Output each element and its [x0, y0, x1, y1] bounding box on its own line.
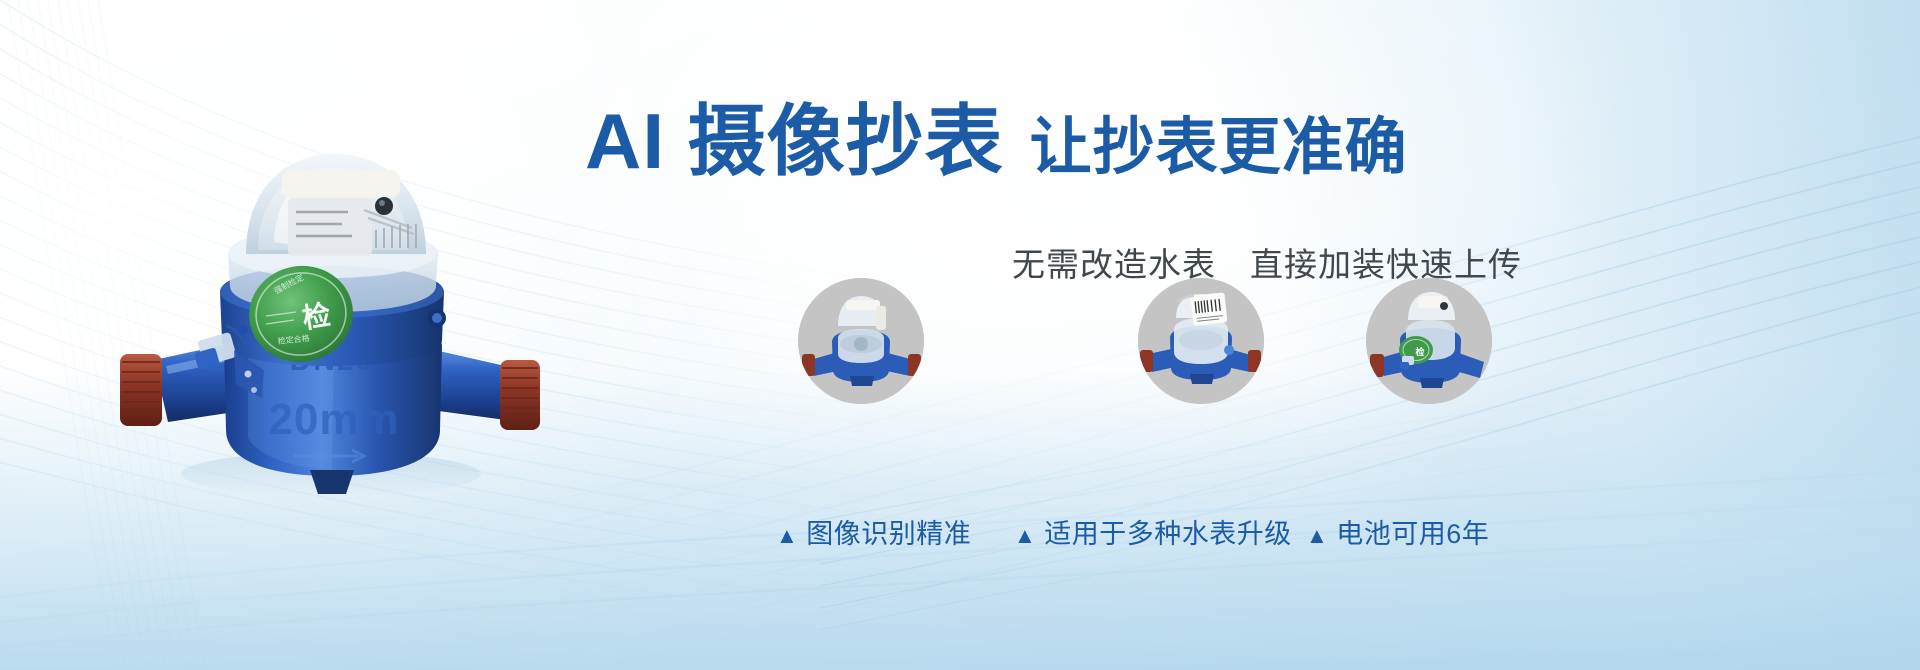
hero-product-image: DN20 20mm	[96, 78, 566, 498]
thumb-illustration-1	[798, 278, 924, 404]
thumb-illustration-3: 检	[1366, 278, 1492, 404]
thumb-water-meter-barcode-label[interactable]	[1138, 278, 1264, 404]
triangle-marker-icon: ▲	[776, 523, 798, 548]
thumb-illustration-2	[1138, 278, 1264, 404]
feature-item-2: ▲电池可用6年	[1306, 512, 1489, 551]
thumb-water-meter-green-seal[interactable]: 检	[1366, 278, 1492, 404]
feature-label-2: 电池可用6年	[1336, 519, 1489, 549]
headline-secondary: 让抄表更准确	[1030, 113, 1408, 182]
svg-text:20mm: 20mm	[268, 395, 399, 444]
triangle-marker-icon: ▲	[1014, 523, 1036, 548]
svg-text:检: 检	[1415, 346, 1424, 357]
feature-label-0: 图像识别精准	[806, 519, 971, 549]
feature-item-1: ▲适用于多种水表升级	[1014, 512, 1292, 551]
headline-main: AI 摄像抄表	[585, 97, 1004, 185]
feature-item-0: ▲图像识别精准	[776, 512, 971, 551]
water-meter-illustration: DN20 20mm	[96, 78, 566, 498]
svg-text:检: 检	[300, 298, 333, 334]
product-banner: DN20 20mm	[0, 0, 1920, 670]
thumb-water-meter-clear-dome[interactable]	[798, 278, 924, 404]
feature-list: ▲图像识别精准 ▲适用于多种水表升级 ▲电池可用6年	[770, 512, 1890, 558]
triangle-marker-icon: ▲	[1306, 523, 1328, 548]
headline: AI 摄像抄表让抄表更准确	[585, 96, 1485, 186]
feature-label-1: 适用于多种水表升级	[1044, 519, 1292, 549]
thumbnail-row: 检	[780, 278, 1780, 478]
